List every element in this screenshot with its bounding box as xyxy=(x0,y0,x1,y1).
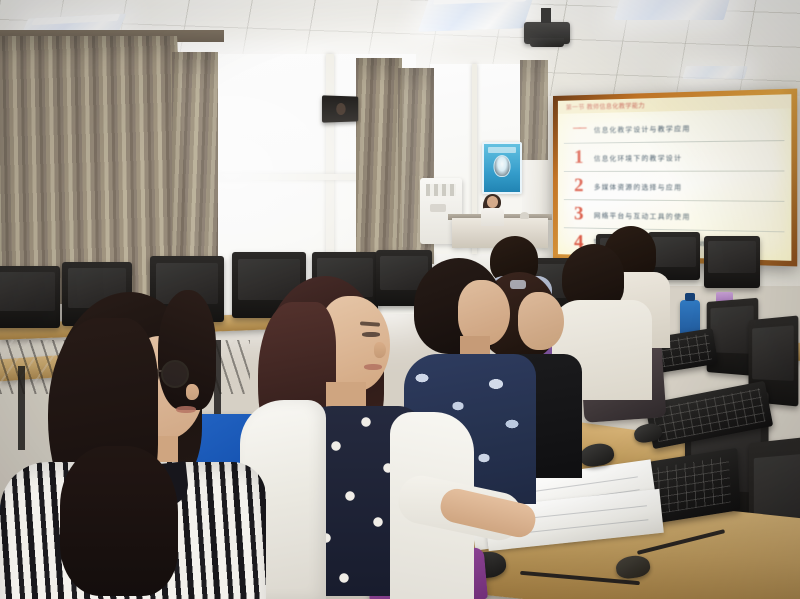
presenter xyxy=(478,196,506,224)
window-curtain[interactable] xyxy=(356,58,402,276)
slide-row-number: 1 xyxy=(564,148,594,167)
slide-row-number: 2 xyxy=(564,176,594,195)
slide-row: 2 多媒体资源的选择与应用 xyxy=(564,172,785,202)
classroom-photo: 第一节 教师信息化教学能力 ── 信息化教学设计与教学应用 1 信息化环境下的教… xyxy=(0,0,800,599)
ceiling-light-panel xyxy=(682,66,748,79)
slide-row-number: ── xyxy=(564,123,594,135)
slide-row-text: 信息化环境下的教学设计 xyxy=(594,150,785,162)
school-emblem-sign xyxy=(482,142,522,194)
slide-row-text: 网络平台与互动工具的使用 xyxy=(594,209,785,222)
ceiling-projector xyxy=(524,22,570,44)
podium-object xyxy=(520,212,529,219)
window-curtain[interactable] xyxy=(520,60,548,160)
attendee-front-striped xyxy=(8,296,258,599)
attendee-second-cardigan xyxy=(240,272,490,599)
slide-row-text: 信息化教学设计与教学应用 xyxy=(594,120,785,134)
slide-row-number: 3 xyxy=(564,204,594,224)
wall-speaker xyxy=(322,95,358,122)
computer-monitor xyxy=(704,236,760,288)
emblem-crest-icon xyxy=(494,155,511,177)
slide-row: ── 信息化教学设计与教学应用 xyxy=(564,111,785,144)
slide-row: 1 信息化环境下的教学设计 xyxy=(564,141,785,172)
ceiling-light-panel xyxy=(614,0,733,20)
slide-header-text: 第一节 教师信息化教学能力 xyxy=(566,100,645,111)
slide-row-text: 多媒体资源的选择与应用 xyxy=(594,181,785,192)
ceiling-light-panel xyxy=(418,0,534,32)
